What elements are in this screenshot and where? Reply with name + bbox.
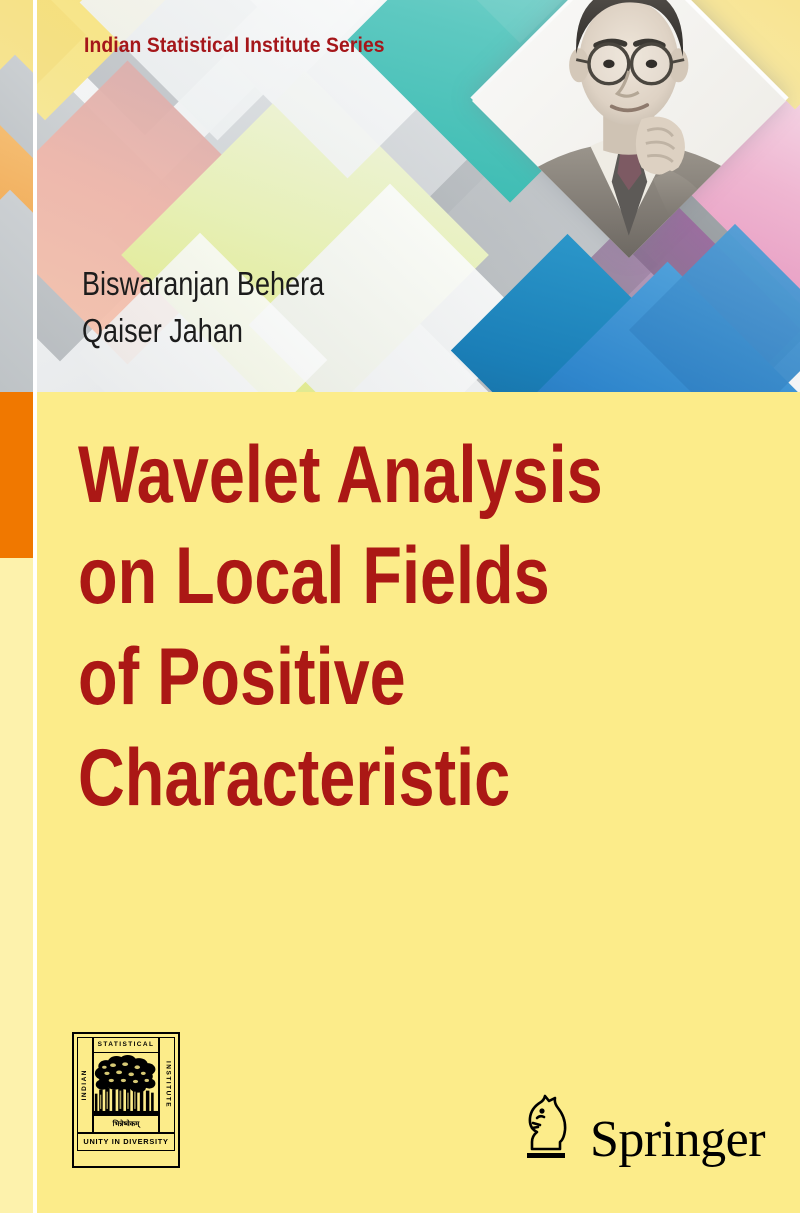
series-title: Indian Statistical Institute Series [84, 34, 385, 58]
title-line: on Local Fields [78, 526, 603, 627]
isi-right-band: INSTITUTE [159, 1037, 175, 1133]
isi-bottom-band: UNITY IN DIVERSITY [77, 1133, 175, 1151]
isi-hindi-label: भिन्नेष्वेकम् [113, 1121, 140, 1128]
author-name: Biswaranjan Behera [82, 260, 324, 307]
banyan-tree-icon [93, 1053, 159, 1115]
book-cover: Indian Statistical Institute Series Bisw… [0, 0, 800, 1213]
author-name: Qaiser Jahan [82, 307, 324, 354]
isi-right-label: INSTITUTE [164, 1061, 171, 1108]
isi-motto-label: UNITY IN DIVERSITY [83, 1138, 168, 1145]
author-list: Biswaranjan Behera Qaiser Jahan [82, 260, 324, 354]
isi-left-band: INDIAN [77, 1037, 93, 1133]
isi-top-band: STATISTICAL [93, 1037, 159, 1053]
isi-hindi-band: भिन्नेष्वेकम् [93, 1115, 159, 1133]
title-line: Wavelet Analysis [78, 425, 603, 526]
springer-wordmark: Springer [590, 1115, 765, 1164]
page-title: Wavelet Analysis on Local Fields of Posi… [78, 425, 603, 829]
diamond-gray [0, 190, 33, 392]
title-line: Characteristic [78, 728, 603, 829]
spine-pattern [0, 0, 33, 392]
indian-statistical-institute-logo: STATISTICAL INDIAN INSTITUTE [72, 1032, 180, 1168]
title-line: of Positive [78, 627, 603, 728]
isi-top-label: STATISTICAL [98, 1042, 155, 1049]
springer-logo: Springer [520, 1092, 765, 1164]
isi-left-label: INDIAN [82, 1069, 89, 1100]
spine-orange-block [0, 392, 33, 558]
spine-divider [33, 0, 37, 1213]
spine-strip [0, 0, 33, 1213]
springer-knight-icon [520, 1092, 578, 1164]
spine-yellow-block [0, 558, 33, 1213]
